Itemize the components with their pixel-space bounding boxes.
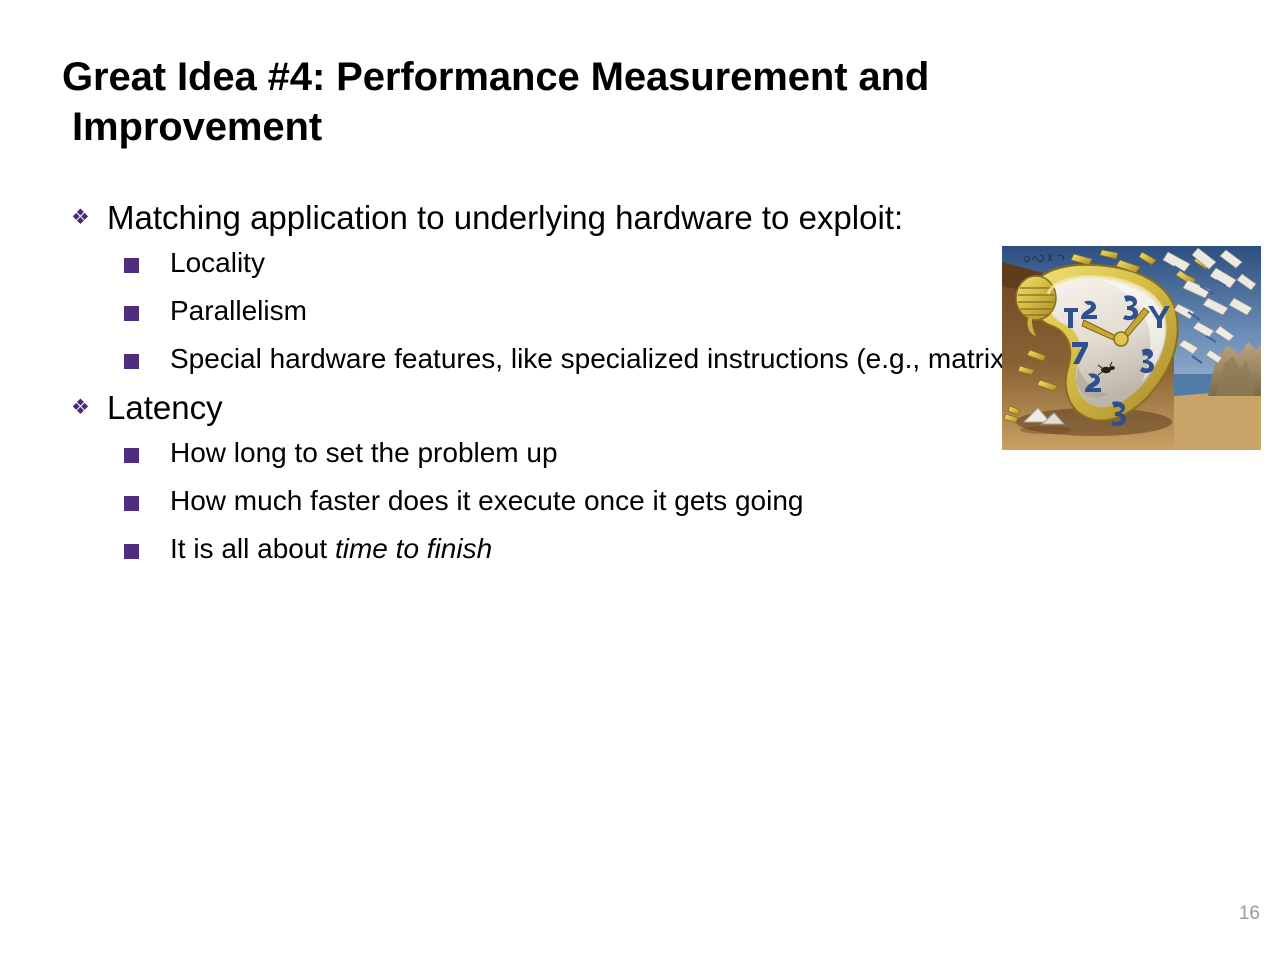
title-line-1: Great Idea #4: Performance Measurement a…: [62, 52, 1192, 102]
square-bullet-icon: [62, 432, 124, 463]
square-bullet-icon: [62, 338, 124, 369]
bullet-item-how-much-faster: How much faster does it execute once it …: [62, 480, 1222, 522]
bullet-text-plain: It is all about: [170, 533, 335, 564]
bullet-text: It is all about time to finish: [124, 528, 1222, 570]
bullet-text: How much faster does it execute once it …: [124, 480, 1222, 522]
square-bullet-icon: [62, 290, 124, 321]
square-bullet-icon: [62, 528, 124, 559]
page-title: Great Idea #4: Performance Measurement a…: [62, 52, 1192, 152]
title-line-2: Improvement: [62, 102, 1192, 152]
square-bullet-icon: [62, 242, 124, 273]
bullet-item-matching: ❖ Matching application to underlying har…: [62, 196, 1222, 240]
bullet-text-emphasis: time to finish: [335, 533, 492, 564]
square-bullet-icon: [62, 480, 124, 511]
bullet-text: Matching application to underlying hardw…: [107, 196, 947, 240]
slide: Great Idea #4: Performance Measurement a…: [0, 0, 1280, 960]
melting-clock-painting: [1002, 246, 1261, 450]
diamond-bullet-icon: ❖: [62, 196, 107, 240]
diamond-bullet-icon: ❖: [62, 386, 107, 430]
bullet-item-time-to-finish: It is all about time to finish: [62, 528, 1222, 570]
page-number: 16: [1220, 903, 1260, 925]
